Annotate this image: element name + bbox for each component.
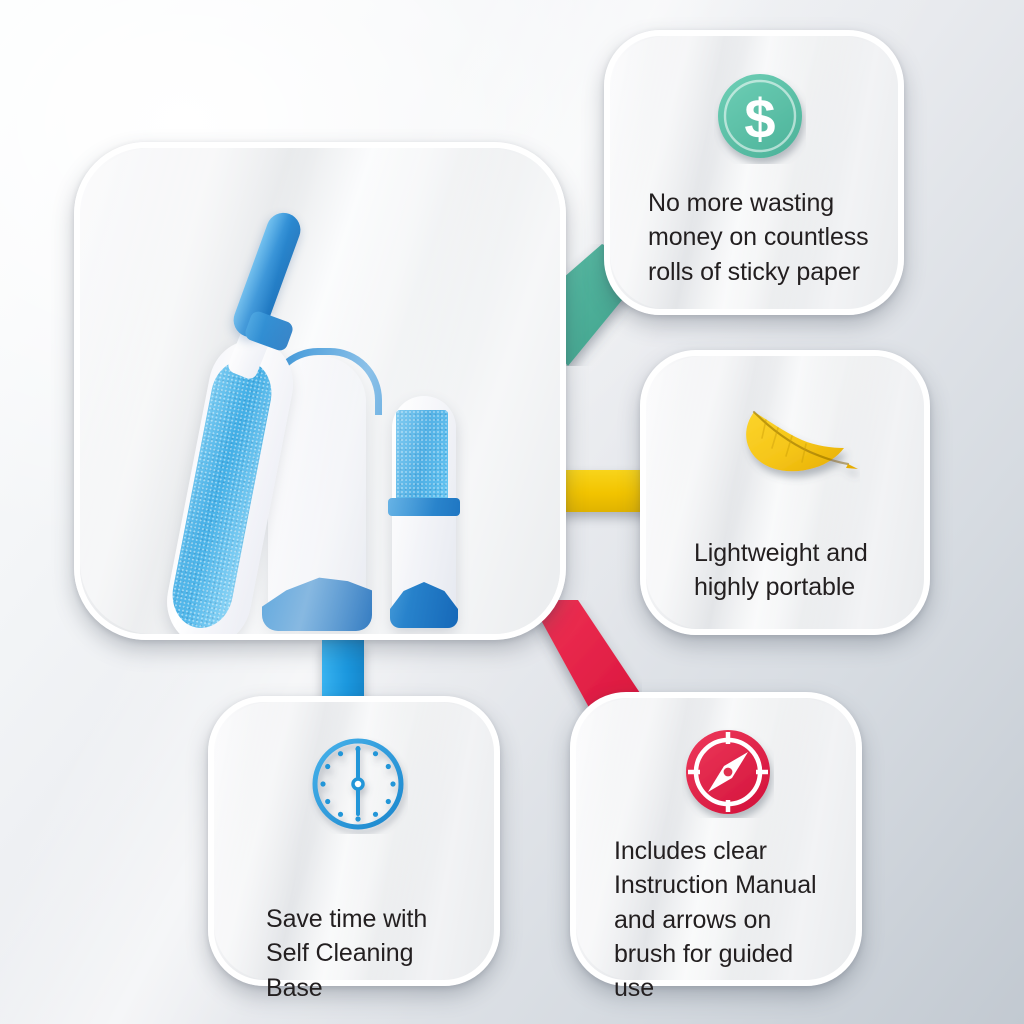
- svg-text:$: $: [744, 87, 775, 150]
- time-card: Save time with Self Cleaning Base: [208, 696, 500, 986]
- money-card-text: No more wasting money on countless rolls…: [648, 186, 872, 289]
- manual-card-content: Includes clear Instruction Manual and ar…: [576, 698, 856, 980]
- feather-icon-wrap: [694, 392, 898, 500]
- money-card-content: $ No more wasting money on countless rol…: [610, 36, 898, 309]
- lightweight-card-content: Lightweight and highly portable: [646, 356, 924, 629]
- lightweight-card: Lightweight and highly portable: [640, 350, 930, 635]
- compass-icon: [682, 726, 774, 818]
- dollar-coin-icon: $: [714, 72, 806, 164]
- infographic-canvas: $ No more wasting money on countless rol…: [0, 0, 1024, 1024]
- travel-brush-collar: [388, 498, 460, 516]
- travel-brush-pad-texture: [396, 410, 448, 502]
- clock-icon: [308, 734, 408, 834]
- manual-card-text: Includes clear Instruction Manual and ar…: [614, 834, 836, 1005]
- product-photo: [80, 148, 560, 634]
- product-card: [74, 142, 566, 640]
- lightweight-card-text: Lightweight and highly portable: [694, 536, 898, 605]
- time-card-content: Save time with Self Cleaning Base: [214, 702, 494, 980]
- money-icon-wrap: $: [648, 66, 872, 170]
- money-card: $ No more wasting money on countless rol…: [604, 30, 904, 315]
- time-card-text: Save time with Self Cleaning Base: [266, 902, 468, 1005]
- feather-icon: [732, 398, 860, 494]
- compass-icon-wrap: [614, 720, 836, 824]
- manual-card: Includes clear Instruction Manual and ar…: [570, 692, 862, 986]
- clock-icon-wrap: [266, 728, 468, 840]
